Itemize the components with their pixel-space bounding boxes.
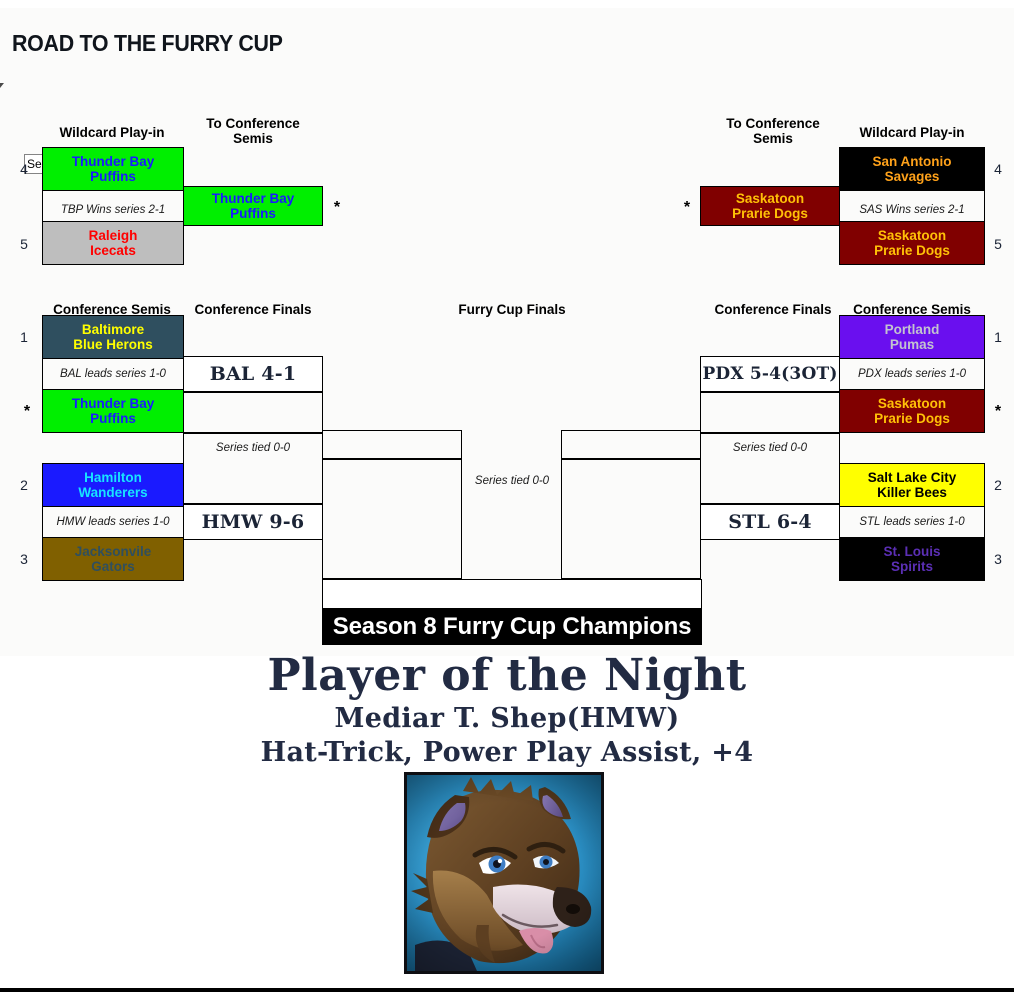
- seed-saskatoon-semis: *: [990, 407, 1006, 417]
- champion-team-slot: [322, 579, 702, 609]
- team-box-salt-lake-city-killer-bees[interactable]: Salt Lake City Killer Bees: [839, 463, 985, 507]
- potn-player-stats: Hat-Trick, Power Play Assist, +4: [0, 736, 1014, 770]
- potn-player-name: Mediar T. Shep(HMW): [0, 702, 1014, 736]
- header-left-conf-finals: Conference Finals: [182, 302, 324, 317]
- series-status-cup-finals: Series tied 0-0: [462, 470, 562, 492]
- header-cup-finals: Furry Cup Finals: [422, 302, 602, 317]
- avatar-vignette: [407, 775, 601, 971]
- team-name-line2: Prarie Dogs: [874, 243, 950, 258]
- team-box-saskatoon-wildcard[interactable]: Saskatoon Prarie Dogs: [839, 221, 985, 265]
- team-name-line2: Prarie Dogs: [732, 206, 808, 221]
- series-status-hmw-jax: HMW leads series 1-0: [42, 507, 184, 537]
- team-box-raleigh-icecats[interactable]: Raleigh Icecats: [42, 221, 184, 265]
- series-status-pdx-sas: PDX leads series 1-0: [839, 359, 985, 389]
- seed-hamilton: 2: [14, 477, 34, 493]
- team-name-line2: Blue Herons: [73, 337, 153, 352]
- seed-jacksonville: 3: [14, 551, 34, 567]
- header-right-to-semis-line1: To Conference: [700, 116, 846, 131]
- left-conf-final-slot-top: [183, 392, 323, 433]
- header-right-wildcard: Wildcard Play-in: [838, 125, 986, 140]
- player-of-the-night: Player of the Night Mediar T. Shep(HMW) …: [0, 650, 1014, 770]
- team-name-line1: Portland: [885, 322, 940, 337]
- score-box-bal: BAL 4-1: [183, 356, 323, 392]
- series-status-right-conf-final: Series tied 0-0: [700, 433, 840, 463]
- potn-heading: Player of the Night: [0, 650, 1014, 702]
- seed-left-wildcard-bottom: 5: [14, 236, 34, 252]
- seed-salt-lake-city: 2: [988, 477, 1008, 493]
- team-box-thunder-bay-wildcard[interactable]: Thunder Bay Puffins: [42, 147, 184, 191]
- seed-st-louis: 3: [988, 551, 1008, 567]
- seed-left-wildcard-top: 4: [14, 161, 34, 177]
- header-right-conf-finals: Conference Finals: [700, 302, 846, 317]
- team-name-line2: Puffins: [212, 206, 295, 221]
- team-name-line1: Baltimore: [73, 322, 153, 337]
- champions-banner: Season 8 Furry Cup Champions: [322, 609, 702, 645]
- team-name-line1: Saskatoon: [874, 396, 950, 411]
- team-box-baltimore-blue-herons[interactable]: Baltimore Blue Herons: [42, 315, 184, 359]
- team-name-line1: Raleigh: [89, 228, 138, 243]
- winner-marker-right-wildcard: *: [679, 203, 695, 213]
- winner-marker-left-wildcard: *: [329, 203, 345, 213]
- seed-right-wildcard-bottom: 5: [988, 236, 1008, 252]
- team-name-line2: Wanderers: [78, 485, 147, 500]
- seed-baltimore: 1: [14, 329, 34, 345]
- seed-thunder-bay-semis: *: [19, 407, 35, 417]
- team-name-line1: San Antonio: [873, 154, 952, 169]
- header-right-to-semis: To Conference Semis: [700, 116, 846, 146]
- team-name-line1: Thunder Bay: [72, 396, 155, 411]
- header-left-wildcard: Wildcard Play-in: [40, 125, 184, 140]
- team-name-line2: Spirits: [884, 559, 941, 574]
- team-name-line2: Puffins: [72, 411, 155, 426]
- header-right-to-semis-line2: Semis: [700, 131, 846, 146]
- team-box-wildcard-winner-left[interactable]: Thunder Bay Puffins: [183, 186, 323, 226]
- right-finals-connector-top: [561, 430, 701, 459]
- team-name-line2: Gators: [75, 559, 152, 574]
- seed-portland: 1: [988, 329, 1008, 345]
- series-status-bal-tbp: BAL leads series 1-0: [42, 359, 184, 389]
- team-name-line2: Savages: [873, 169, 952, 184]
- champions-banner-label: Season 8 Furry Cup Champions: [333, 613, 691, 641]
- team-box-jacksonvile-gators[interactable]: Jacksonvile Gators: [42, 537, 184, 581]
- team-name-line2: Prarie Dogs: [874, 411, 950, 426]
- team-box-hamilton-wanderers[interactable]: Hamilton Wanderers: [42, 463, 184, 507]
- team-box-st-louis-spirits[interactable]: St. Louis Spirits: [839, 537, 985, 581]
- team-name-line1: St. Louis: [884, 544, 941, 559]
- header-left-to-semis-line2: Semis: [182, 131, 324, 146]
- page-title: ROAD TO THE FURRY CUP: [12, 30, 283, 57]
- right-conf-final-slot-top: [700, 392, 840, 433]
- team-name-line1: Jacksonvile: [75, 544, 152, 559]
- score-box-pdx: PDX 5-4(3OT): [700, 356, 840, 392]
- score-box-hmw: HMW 9-6: [183, 504, 323, 540]
- team-box-saskatoon-semis[interactable]: Saskatoon Prarie Dogs: [839, 389, 985, 433]
- team-name-line2: Icecats: [89, 243, 138, 258]
- team-name-line1: Hamilton: [78, 470, 147, 485]
- team-name-line1: Saskatoon: [732, 191, 808, 206]
- left-finals-connector-top: [322, 430, 462, 459]
- team-name-line2: Killer Bees: [868, 485, 957, 500]
- series-status-left-conf-final: Series tied 0-0: [183, 433, 323, 463]
- team-name-line2: Puffins: [72, 169, 155, 184]
- series-status-stl-slc: STL leads series 1-0: [839, 507, 985, 537]
- team-name-line1: Salt Lake City: [868, 470, 957, 485]
- right-finals-connector-bottom: [561, 459, 701, 579]
- team-box-thunder-bay-semis[interactable]: Thunder Bay Puffins: [42, 389, 184, 433]
- seed-right-wildcard-top: 4: [988, 161, 1008, 177]
- page-bottom-rule: [0, 988, 1014, 992]
- team-name-line1: Thunder Bay: [212, 191, 295, 206]
- team-box-portland-pumas[interactable]: Portland Pumas: [839, 315, 985, 359]
- team-box-wildcard-winner-right[interactable]: Saskatoon Prarie Dogs: [700, 186, 840, 226]
- score-box-stl: STL 6-4: [700, 504, 840, 540]
- team-name-line2: Pumas: [885, 337, 940, 352]
- header-left-to-semis-line1: To Conference: [182, 116, 324, 131]
- team-name-line1: Saskatoon: [874, 228, 950, 243]
- header-left-to-semis: To Conference Semis: [182, 116, 324, 146]
- team-name-line1: Thunder Bay: [72, 154, 155, 169]
- left-finals-connector-bottom: [322, 459, 462, 579]
- potn-avatar: [404, 772, 604, 974]
- team-box-san-antonio-savages[interactable]: San Antonio Savages: [839, 147, 985, 191]
